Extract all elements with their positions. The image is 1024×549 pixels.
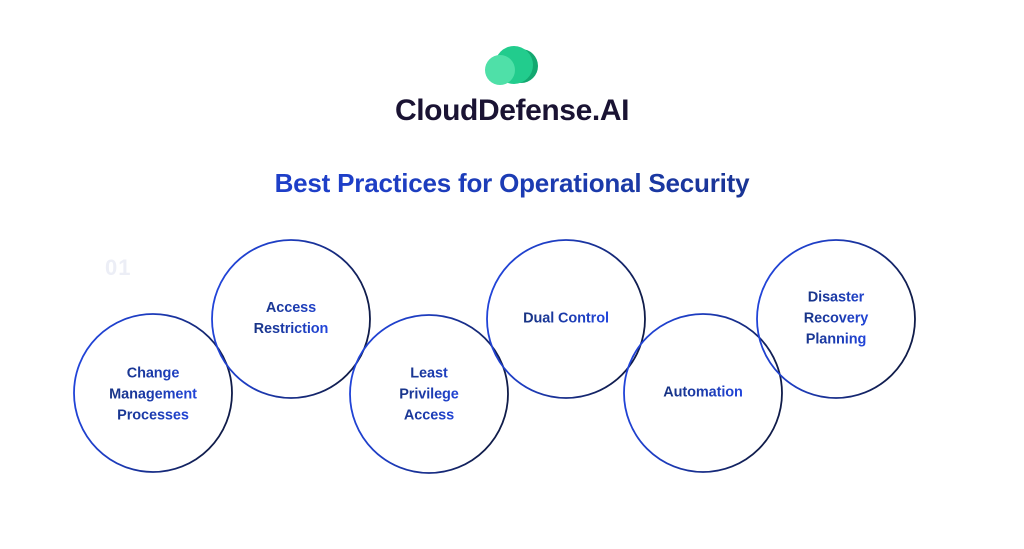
- diagram-node-label: Automation: [663, 382, 743, 403]
- diagram-node-label: Change Management Processes: [109, 363, 197, 426]
- diagram-node-label: Access Restriction: [254, 298, 329, 340]
- step-index-watermark: 01: [105, 255, 131, 281]
- infographic-page: CloudDefense.AI Best Practices for Opera…: [0, 0, 1024, 549]
- best-practices-diagram: 01 Change Management ProcessesAccess Res…: [0, 0, 1024, 549]
- diagram-node-label: Dual Control: [523, 308, 609, 329]
- diagram-node-label: Least Privilege Access: [399, 363, 459, 426]
- diagram-node-label: Disaster Recovery Planning: [804, 287, 869, 350]
